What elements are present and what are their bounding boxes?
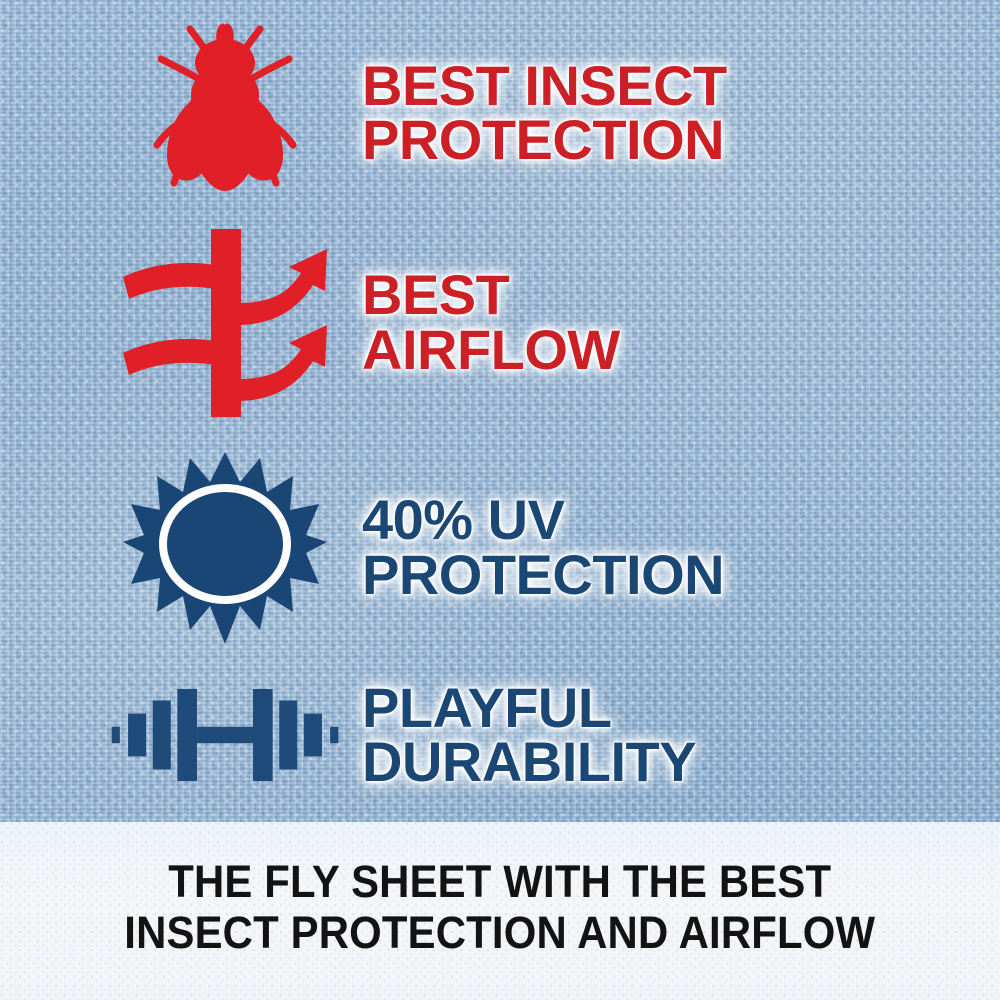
feature-text-cell: 40% UV PROTECTION [340,493,724,602]
feature-text-cell: BEST AIRFLOW [340,268,620,377]
sun-uv-icon [123,450,327,646]
feature-text-cell: PLAYFUL DURABILITY [340,681,696,790]
feature-row-airflow: BEST AIRFLOW [110,215,1000,430]
feature-label-line: DURABILITY [362,735,696,789]
product-feature-poster: BEST INSECT PROTECTION [0,0,1000,1000]
feature-label-uv-protection: 40% UV PROTECTION [362,493,724,602]
feature-label-line: PROTECTION [362,548,724,602]
caption-line: THE FLY SHEET WITH THE BEST [125,857,876,908]
sunburst-shape [123,452,327,644]
feature-label-insect-protection: BEST INSECT PROTECTION [362,59,727,168]
feature-row-durability: PLAYFUL DURABILITY [110,655,1000,815]
fly-icon [141,21,309,206]
feature-label-line: 40% UV [362,493,724,547]
feature-label-airflow: BEST AIRFLOW [362,268,620,377]
feature-row-insect-protection: BEST INSECT PROTECTION [110,18,1000,208]
feature-icon-cell [110,225,340,421]
airflow-through-mesh-icon [113,225,337,421]
feature-row-uv-protection: 40% UV PROTECTION [110,440,1000,655]
caption-headline: THE FLY SHEET WITH THE BEST INSECT PROTE… [125,857,876,959]
feature-label-durability: PLAYFUL DURABILITY [362,681,696,790]
feature-label-line: AIRFLOW [362,323,620,377]
feature-label-line: PROTECTION [362,113,727,167]
dumbbell-icon [110,671,340,799]
feature-icon-cell [110,450,340,646]
feature-text-cell: BEST INSECT PROTECTION [340,59,727,168]
caption-band: THE FLY SHEET WITH THE BEST INSECT PROTE… [0,822,1000,1000]
feature-label-line: BEST INSECT [362,59,727,113]
feature-icon-cell [110,21,340,206]
caption-line: INSECT PROTECTION AND AIRFLOW [125,908,876,959]
feature-label-line: BEST [362,268,620,322]
feature-label-line: PLAYFUL [362,681,696,735]
feature-icon-cell [110,671,340,799]
